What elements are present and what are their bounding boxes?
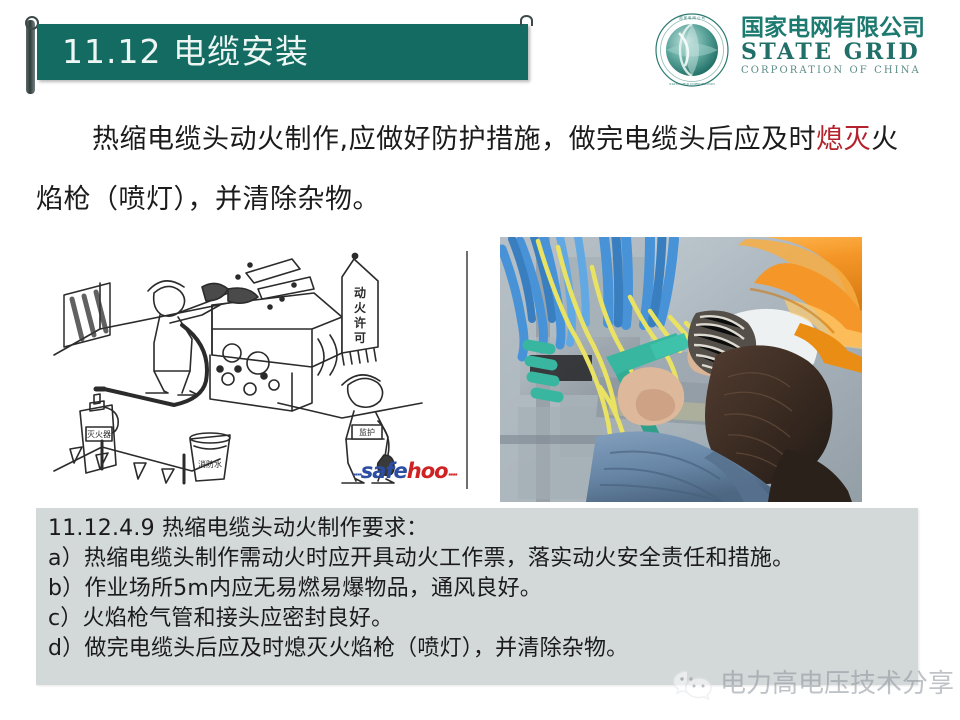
svg-text:动: 动 [354,286,366,300]
requirement-line: d）做完电缆头后应及时熄灭火焰枪（喷灯），并清除杂物。 [48,634,910,664]
illustration-divider [466,251,468,489]
slide-canvas: 11.12 电缆安装 国 家 电 网 公 司 STATE GRID [0,0,960,720]
logo-name-cn: 国家电网有限公司 [741,15,951,41]
logo-name-en: STATE GRID [741,41,951,64]
body-text-highlight: 熄灭 [816,124,871,155]
state-grid-logo: 国 家 电 网 公 司 STATE GRID CORPORATION 国家电网有… [655,13,951,87]
wechat-icon [672,668,712,700]
monitor-badge-label: 监护 [359,427,375,437]
body-text-part1: 热缩电缆头动火制作,应做好防护措施，做完电缆头后应及时 [92,124,816,155]
body-paragraph: 热缩电缆头动火制作,应做好防护措施，做完电缆头后应及时熄灭火焰枪（喷灯），并清除… [36,110,924,230]
photo-content [500,237,862,502]
logo-wordmark: 国家电网有限公司 STATE GRID CORPORATION OF CHINA [741,15,951,77]
banner-pole [26,20,35,94]
safehoo-watermark: ····safehoo···· [352,461,456,485]
svg-text:STATE GRID CORPORATION: STATE GRID CORPORATION [669,82,715,86]
logo-name-sub: CORPORATION OF CHINA [741,64,951,77]
safehoo-blue: safe [361,459,407,483]
cable-work-photo [500,237,862,502]
requirements-list: 11.12.4.9 热缩电缆头动火制作要求： a）热缩电缆头制作需动火时应开具动… [48,514,910,664]
extinguisher-label: 灭火器 [87,430,111,439]
requirement-line: 11.12.4.9 热缩电缆头动火制作要求： [48,514,910,544]
safehoo-dots-right: ···· [448,468,457,481]
bucket-label: 消防水 [198,459,222,469]
requirements-box: 11.12.4.9 热缩电缆头动火制作要求： a）热缩电缆头制作需动火时应开具动… [36,508,918,685]
requirement-line: c）火焰枪气管和接头应密封良好。 [48,604,910,634]
svg-text:火: 火 [354,301,367,315]
safehoo-dots-left: ···· [352,468,361,481]
svg-text:国 家 电 网 公 司: 国 家 电 网 公 司 [679,15,705,20]
state-grid-globe-icon: 国 家 电 网 公 司 STATE GRID CORPORATION [655,13,729,87]
watermark-text: 电力高电压技术分享 [720,669,954,699]
requirement-line: b）作业场所5m内应无易燃易爆物品，通风良好。 [48,574,910,604]
safehoo-red: hoo [407,459,448,483]
svg-text:许: 许 [354,315,366,330]
svg-text:可: 可 [354,331,366,345]
title-banner: 11.12 电缆安装 [26,24,528,80]
permit-banner-text: 动 火 许 可 [354,286,367,345]
wechat-watermark: 电力高电压技术分享 [672,663,950,705]
page-title: 11.12 电缆安装 [62,31,309,73]
requirement-line: a）热缩电缆头制作需动火时应开具动火工作票，落实动火安全责任和措施。 [48,544,910,574]
banner-hook-icon [520,15,533,26]
hot-work-illustration: 动 火 许 可 灭火器 消防水 监护 ····safehoo···· [42,243,468,500]
